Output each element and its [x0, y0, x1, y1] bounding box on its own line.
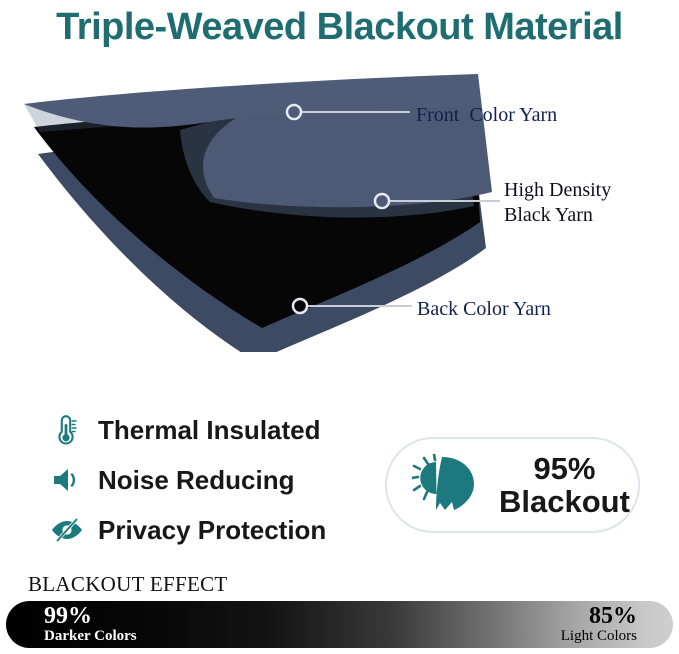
feature-list: Thermal Insulated Noise Reducing Privacy…	[46, 408, 376, 558]
feature-label-privacy-protection: Privacy Protection	[98, 515, 326, 546]
blackout-effect-darker: 99% Darker Colors	[44, 604, 137, 645]
label-front-color-yarn: Front Color Yarn	[416, 103, 557, 128]
page-title: Triple-Weaved Blackout Material	[0, 6, 679, 49]
blackout-percent: 95%	[499, 452, 630, 485]
label-back-color-yarn: Back Color Yarn	[417, 297, 551, 322]
feature-privacy-protection: Privacy Protection	[46, 508, 376, 552]
sun-behind-curtain-icon	[405, 450, 489, 520]
darker-colors-percent: 99%	[44, 604, 137, 629]
darker-colors-label: Darker Colors	[44, 629, 137, 645]
blackout-effect-light: 85% Light Colors	[561, 604, 637, 645]
light-colors-label: Light Colors	[561, 629, 637, 645]
light-colors-percent: 85%	[561, 604, 637, 629]
eye-slash-icon	[46, 511, 88, 549]
blackout-badge-text: 95% Blackout	[499, 452, 630, 519]
blackout-badge: 95% Blackout	[385, 437, 640, 533]
label-black-yarn-line2: Black Yarn	[504, 204, 593, 226]
feature-label-thermal-insulated: Thermal Insulated	[98, 415, 321, 446]
feature-label-noise-reducing: Noise Reducing	[98, 465, 294, 496]
blackout-word: Blackout	[499, 485, 630, 518]
label-high-density-black-yarn: High DensityBlack Yarn	[504, 178, 611, 228]
speaker-sound-icon	[46, 461, 88, 499]
feature-noise-reducing: Noise Reducing	[46, 458, 376, 502]
thermometer-icon	[46, 411, 88, 449]
label-black-yarn-line1: High Density	[504, 179, 611, 201]
feature-thermal-insulated: Thermal Insulated	[46, 408, 376, 452]
blackout-effect-heading: BLACKOUT EFFECT	[28, 572, 228, 597]
